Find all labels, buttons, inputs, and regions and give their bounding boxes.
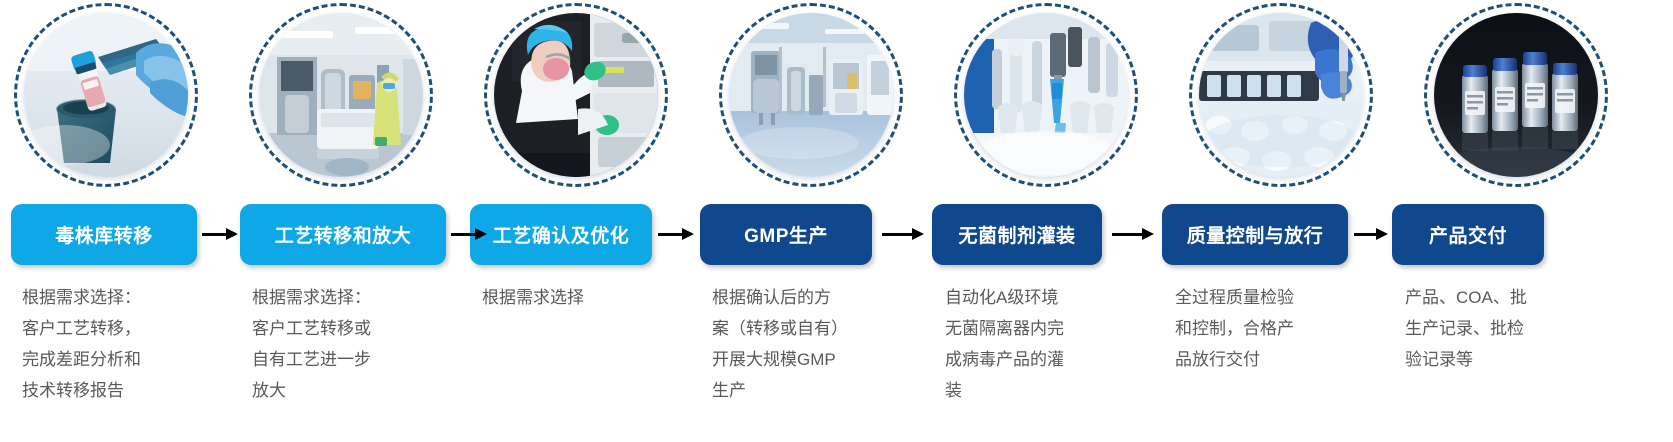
dashed-ring-1 — [14, 3, 198, 187]
step-pill-1[interactable]: 毒株库转移 — [11, 204, 197, 265]
step-image-3 — [484, 3, 668, 187]
step-description-6: 全过程质量检验 和控制，合格产 品放行交付 — [1175, 282, 1375, 375]
step-image-5 — [954, 3, 1138, 187]
flow-arrow-3 — [658, 228, 694, 241]
step-pill-3[interactable]: 工艺确认及优化 — [470, 204, 652, 265]
step-image-4 — [719, 3, 903, 187]
step-pill-6[interactable]: 质量控制与放行 — [1162, 204, 1348, 265]
step-description-7: 产品、COA、批 生产记录、批检 验记录等 — [1405, 282, 1605, 375]
step-image-6 — [1189, 3, 1373, 187]
flow-arrow-4 — [882, 228, 926, 241]
dashed-ring-2 — [249, 3, 433, 187]
dashed-ring-6 — [1189, 3, 1373, 187]
dashed-ring-7 — [1424, 3, 1608, 187]
step-image-1 — [14, 3, 198, 187]
step-description-2: 根据需求选择： 客户工艺转移或 自有工艺进一步 放大 — [252, 282, 452, 406]
step-pill-7[interactable]: 产品交付 — [1392, 204, 1544, 265]
dashed-ring-5 — [954, 3, 1138, 187]
dashed-ring-4 — [719, 3, 903, 187]
step-description-1: 根据需求选择： 客户工艺转移， 完成差距分析和 技术转移报告 — [22, 282, 222, 406]
dashed-ring-3 — [484, 3, 668, 187]
flow-arrow-6 — [1354, 228, 1388, 241]
flow-arrow-5 — [1112, 228, 1156, 241]
process-flow-diagram: 毒株库转移 工艺转移和放大 工艺确认及优化 GMP生产 无菌制剂灌装 质量控制与… — [0, 0, 1673, 442]
step-description-4: 根据确认后的方 案（转移或自有） 开展大规模GMP 生产 — [712, 282, 922, 406]
step-image-2 — [249, 3, 433, 187]
flow-arrow-2 — [451, 228, 487, 241]
step-pill-4[interactable]: GMP生产 — [700, 204, 872, 265]
flow-arrow-1 — [202, 228, 238, 241]
step-description-3: 根据需求选择 — [482, 282, 682, 313]
step-image-7 — [1424, 3, 1608, 187]
step-pill-5[interactable]: 无菌制剂灌装 — [932, 204, 1102, 265]
step-description-5: 自动化A级环境 无菌隔离器内完 成病毒产品的灌 装 — [945, 282, 1145, 406]
step-pill-2[interactable]: 工艺转移和放大 — [240, 204, 446, 265]
